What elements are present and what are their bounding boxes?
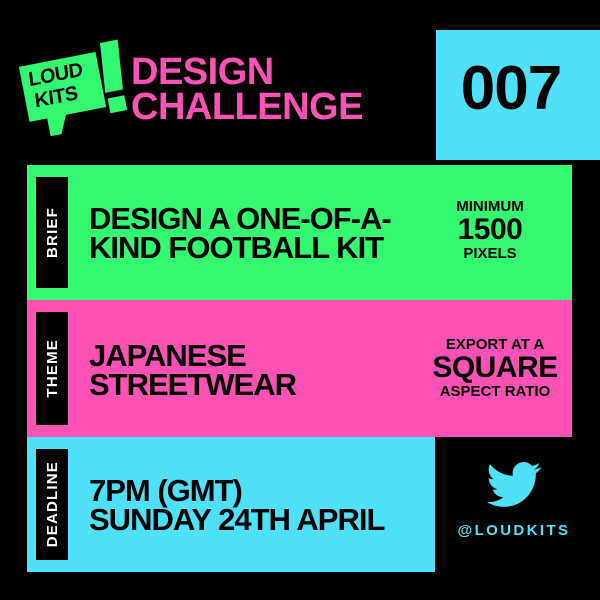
issue-number-text: 007 [436,58,586,120]
brief-label-text: BRIEF [44,207,61,258]
brief-note-line-2: 1500 [425,215,555,245]
design-challenge-poster: LOUD KITS DESIGN CHALLENGE 007 BRIEF DES… [0,0,600,600]
theme-headline-line-2: STREETWEAR [89,371,296,400]
page-title-line-1: DESIGN [131,55,363,90]
logo-speech-tail [47,113,70,136]
theme-headline: JAPANESE STREETWEAR [89,342,296,400]
loud-kits-logo: LOUD KITS [22,42,134,134]
issue-number-badge: 007 [436,30,600,160]
poster-header: LOUD KITS DESIGN CHALLENGE 007 [0,0,600,160]
brief-headline: DESIGN A ONE-OF-A- KIND FOOTBALL KIT [89,205,391,263]
twitter-bird-icon[interactable] [486,462,542,508]
deadline-label-tab: DEADLINE [36,449,68,560]
brief-headline-line-2: KIND FOOTBALL KIT [89,234,391,263]
social-handle-text[interactable]: @LOUDKITS [444,522,584,539]
brief-note-line-1: MINIMUM [425,199,555,214]
social-block[interactable]: @LOUDKITS [444,462,584,539]
deadline-headline-line-2: SUNDAY 24TH APRIL [89,506,384,535]
page-title: DESIGN CHALLENGE [131,55,363,125]
deadline-band: DEADLINE 7PM (GMT) SUNDAY 24TH APRIL [27,437,435,572]
theme-note: EXPORT AT A SQUARE ASPECT RATIO [425,337,565,399]
brief-label-tab: BRIEF [36,177,68,288]
theme-label-text: THEME [44,339,61,398]
brief-note-line-3: PIXELS [425,246,555,261]
brief-note: MINIMUM 1500 PIXELS [425,199,555,261]
page-title-line-2: CHALLENGE [131,90,363,125]
theme-note-line-2: SQUARE [425,353,565,383]
theme-note-line-1: EXPORT AT A [425,337,565,352]
theme-label-tab: THEME [36,312,68,425]
theme-note-line-3: ASPECT RATIO [425,384,565,399]
logo-exclamation-dot [108,95,128,113]
logo-exclamation-bar [100,40,123,93]
deadline-headline: 7PM (GMT) SUNDAY 24TH APRIL [89,477,384,535]
deadline-label-text: DEADLINE [44,461,61,547]
